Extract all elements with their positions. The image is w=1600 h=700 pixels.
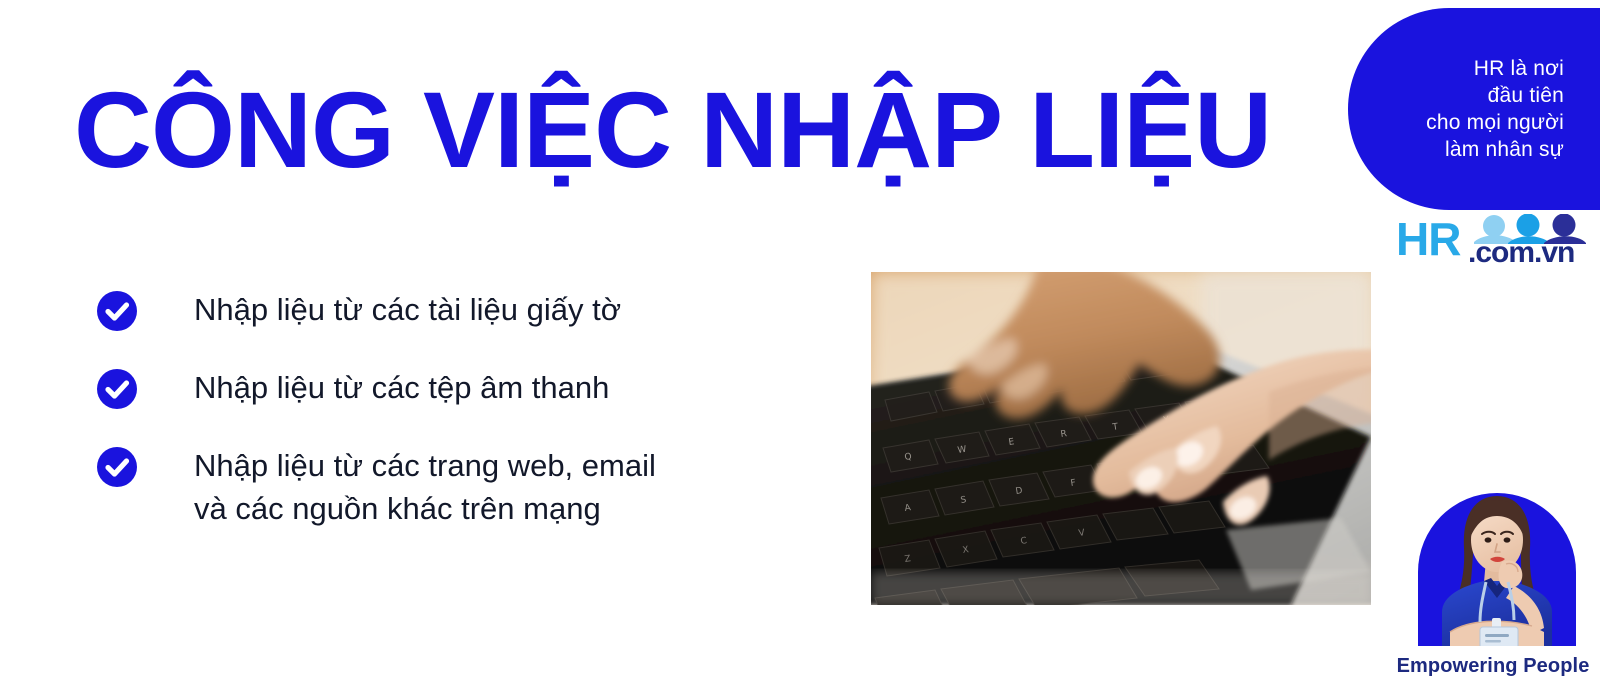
banner-canvas: HR là nơi đầu tiên cho mọi người làm nhâ… (0, 0, 1600, 700)
logo-hr-text: HR (1396, 216, 1460, 262)
hr-logo[interactable]: HR .com.vn (1396, 216, 1592, 272)
list-item-label: Nhập liệu từ các tệp âm thanh (194, 366, 609, 409)
brand-tagline: Empowering People (1386, 654, 1600, 678)
svg-text:W: W (957, 445, 967, 456)
consultant-photo (1406, 482, 1588, 646)
hr-slogan-text: HR là nơi đầu tiên cho mọi người làm nhâ… (1426, 55, 1564, 163)
typing-hands-photo: Q W E R T Y (871, 272, 1371, 605)
list-item: Nhập liệu từ các tệp âm thanh (96, 366, 856, 410)
hr-slogan-badge: HR là nơi đầu tiên cho mọi người làm nhâ… (1348, 8, 1600, 210)
page-title: CÔNG VIỆC NHẬP LIỆU (74, 74, 1314, 194)
list-item: Nhập liệu từ các tài liệu giấy tờ (96, 288, 856, 332)
list-item-label: Nhập liệu từ các tài liệu giấy tờ (194, 288, 621, 331)
list-item-label: Nhập liệu từ các trang web, email và các… (194, 444, 656, 530)
check-circle-icon (96, 290, 138, 332)
check-circle-icon (96, 368, 138, 410)
logo-domain-text: .com.vn (1468, 238, 1574, 268)
list-item: Nhập liệu từ các trang web, email và các… (96, 444, 856, 530)
feature-list: Nhập liệu từ các tài liệu giấy tờ Nhập l… (96, 288, 856, 530)
check-circle-icon (96, 446, 138, 488)
